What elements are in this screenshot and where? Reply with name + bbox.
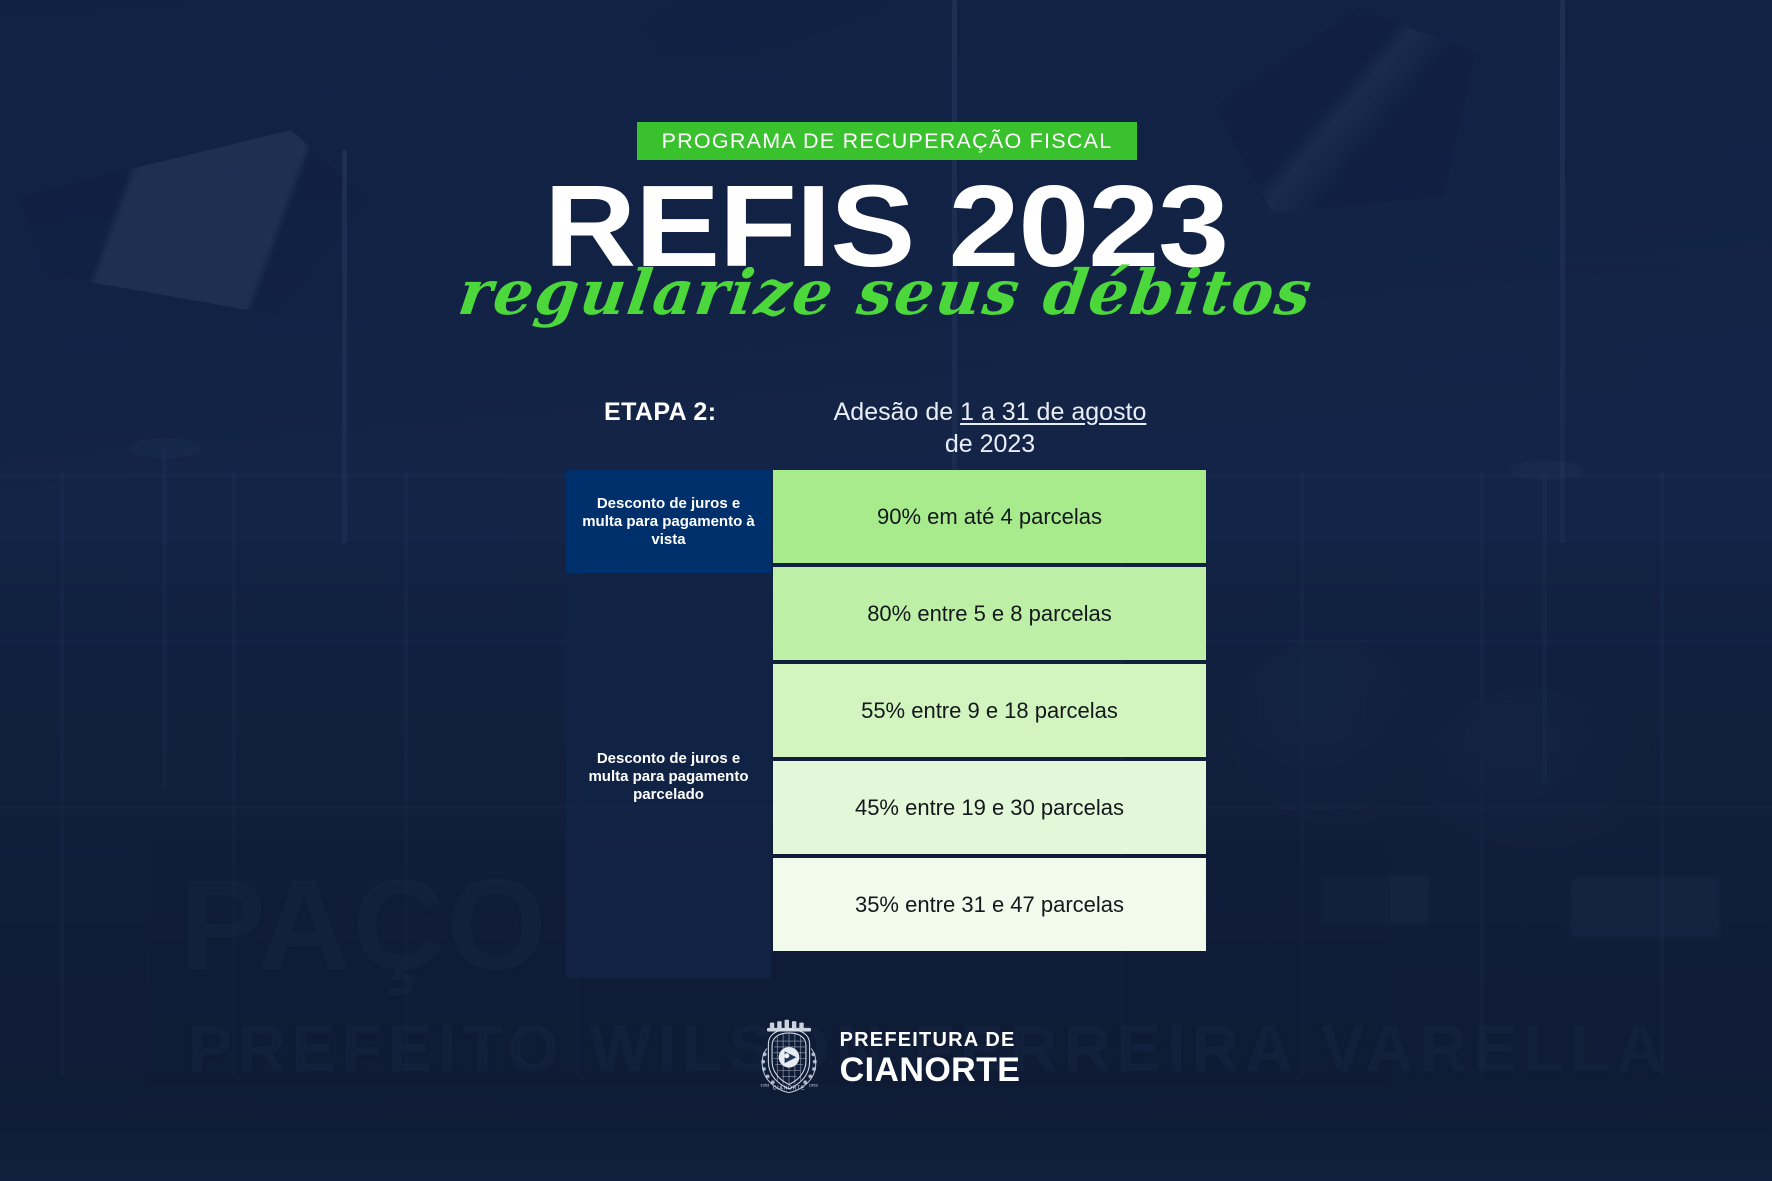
poster-content: PROGRAMA DE RECUPERAÇÃO FISCAL REFIS 202…	[0, 0, 1772, 1181]
table-row: 35% entre 31 e 47 parcelas	[773, 858, 1206, 951]
etapa-label: ETAPA 2:	[604, 398, 764, 427]
coat-of-arms-icon: CIANORTE 1953 1953	[752, 1019, 826, 1097]
poster-canvas: PAÇO PREFEITO WILSON FERREIRA VARELLA PR…	[0, 0, 1772, 1181]
program-badge-label: PROGRAMA DE RECUPERAÇÃO FISCAL	[662, 129, 1113, 154]
adesao-period: 1 a 31 de agosto	[960, 398, 1146, 426]
crest-label: CIANORTE	[772, 1086, 804, 1092]
tagline: regularize seus débitos	[0, 262, 1772, 324]
discount-table-values: 90% em até 4 parcelas 80% entre 5 e 8 pa…	[773, 470, 1206, 978]
discount-table-labels: Desconto de juros e multa para pagamento…	[566, 470, 771, 978]
crest-year-left: 1953	[760, 1083, 770, 1088]
discount-table: Desconto de juros e multa para pagamento…	[566, 470, 1206, 978]
program-badge: PROGRAMA DE RECUPERAÇÃO FISCAL	[637, 122, 1137, 160]
footer-line-2: CIANORTE	[840, 1053, 1021, 1087]
table-row: 80% entre 5 e 8 parcelas	[773, 567, 1206, 660]
footer-text: PREFEITURA DE CIANORTE	[840, 1030, 1021, 1087]
footer-line-1: PREFEITURA DE	[840, 1030, 1021, 1050]
footer-brand: CIANORTE 1953 1953 PREFEITURA DE CIANORT…	[0, 1018, 1772, 1098]
table-row-label-avista: Desconto de juros e multa para pagamento…	[566, 470, 771, 573]
adesao-year: de 2023	[945, 430, 1035, 458]
table-row: 55% entre 9 e 18 parcelas	[773, 664, 1206, 757]
adesao-prefix: Adesão de	[834, 398, 961, 426]
adesao-text: Adesão de 1 a 31 de agostode 2023	[790, 396, 1190, 460]
table-row: 45% entre 19 e 30 parcelas	[773, 761, 1206, 854]
crest-year-right: 1953	[808, 1083, 818, 1088]
table-row: 90% em até 4 parcelas	[773, 470, 1206, 563]
table-row-label-parcelado: Desconto de juros e multa para pagamento…	[566, 575, 771, 978]
stage-info-row: ETAPA 2: Adesão de 1 a 31 de agostode 20…	[0, 398, 1772, 468]
